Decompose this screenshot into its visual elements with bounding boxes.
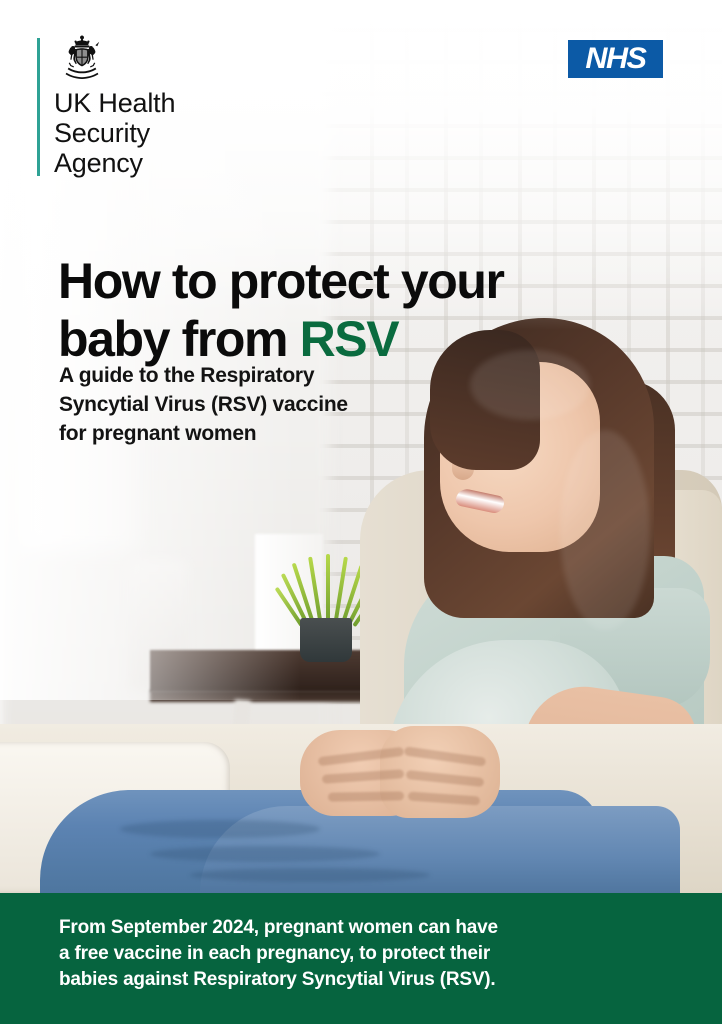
plant-pot bbox=[300, 618, 352, 662]
title-line-2: baby from bbox=[58, 311, 300, 367]
title-line-1: How to protect your bbox=[58, 253, 504, 309]
ukhsa-wordmark: UK Health Security Agency bbox=[54, 88, 175, 178]
page-title: How to protect your baby from RSV bbox=[58, 252, 678, 368]
nhs-logo: NHS bbox=[568, 40, 663, 78]
subtitle-line-3: for pregnant women bbox=[59, 419, 459, 448]
jeans-fold bbox=[120, 820, 320, 838]
potted-plant-leaves bbox=[288, 556, 368, 626]
green-footer-banner: From September 2024, pregnant women can … bbox=[0, 893, 722, 1024]
jeans-fold bbox=[190, 868, 430, 882]
ukhsa-line-1: UK Health bbox=[54, 88, 175, 118]
subtitle-line-2: Syncytial Virus (RSV) vaccine bbox=[59, 390, 459, 419]
finger-line bbox=[328, 791, 404, 801]
ukhsa-teal-rule bbox=[37, 38, 40, 176]
subtitle-line-1: A guide to the Respiratory bbox=[59, 361, 459, 390]
hair-highlight bbox=[560, 430, 650, 630]
banner-line-3: babies against Respiratory Syncytial Vir… bbox=[59, 967, 659, 993]
banner-message: From September 2024, pregnant women can … bbox=[59, 915, 659, 993]
ukhsa-line-2: Security bbox=[54, 118, 175, 148]
banner-line-1: From September 2024, pregnant women can … bbox=[59, 915, 659, 941]
title-accent-rsv: RSV bbox=[300, 311, 399, 367]
royal-coat-of-arms-icon bbox=[56, 33, 108, 85]
nhs-logo-text: NHS bbox=[585, 42, 645, 76]
ukhsa-line-3: Agency bbox=[54, 148, 175, 178]
page-subtitle: A guide to the Respiratory Syncytial Vir… bbox=[59, 361, 459, 448]
leaflet-cover-page: UK Health Security Agency NHS How to pro… bbox=[0, 0, 722, 1024]
banner-line-2: a free vaccine in each pregnancy, to pro… bbox=[59, 941, 659, 967]
jeans-fold bbox=[150, 846, 380, 862]
